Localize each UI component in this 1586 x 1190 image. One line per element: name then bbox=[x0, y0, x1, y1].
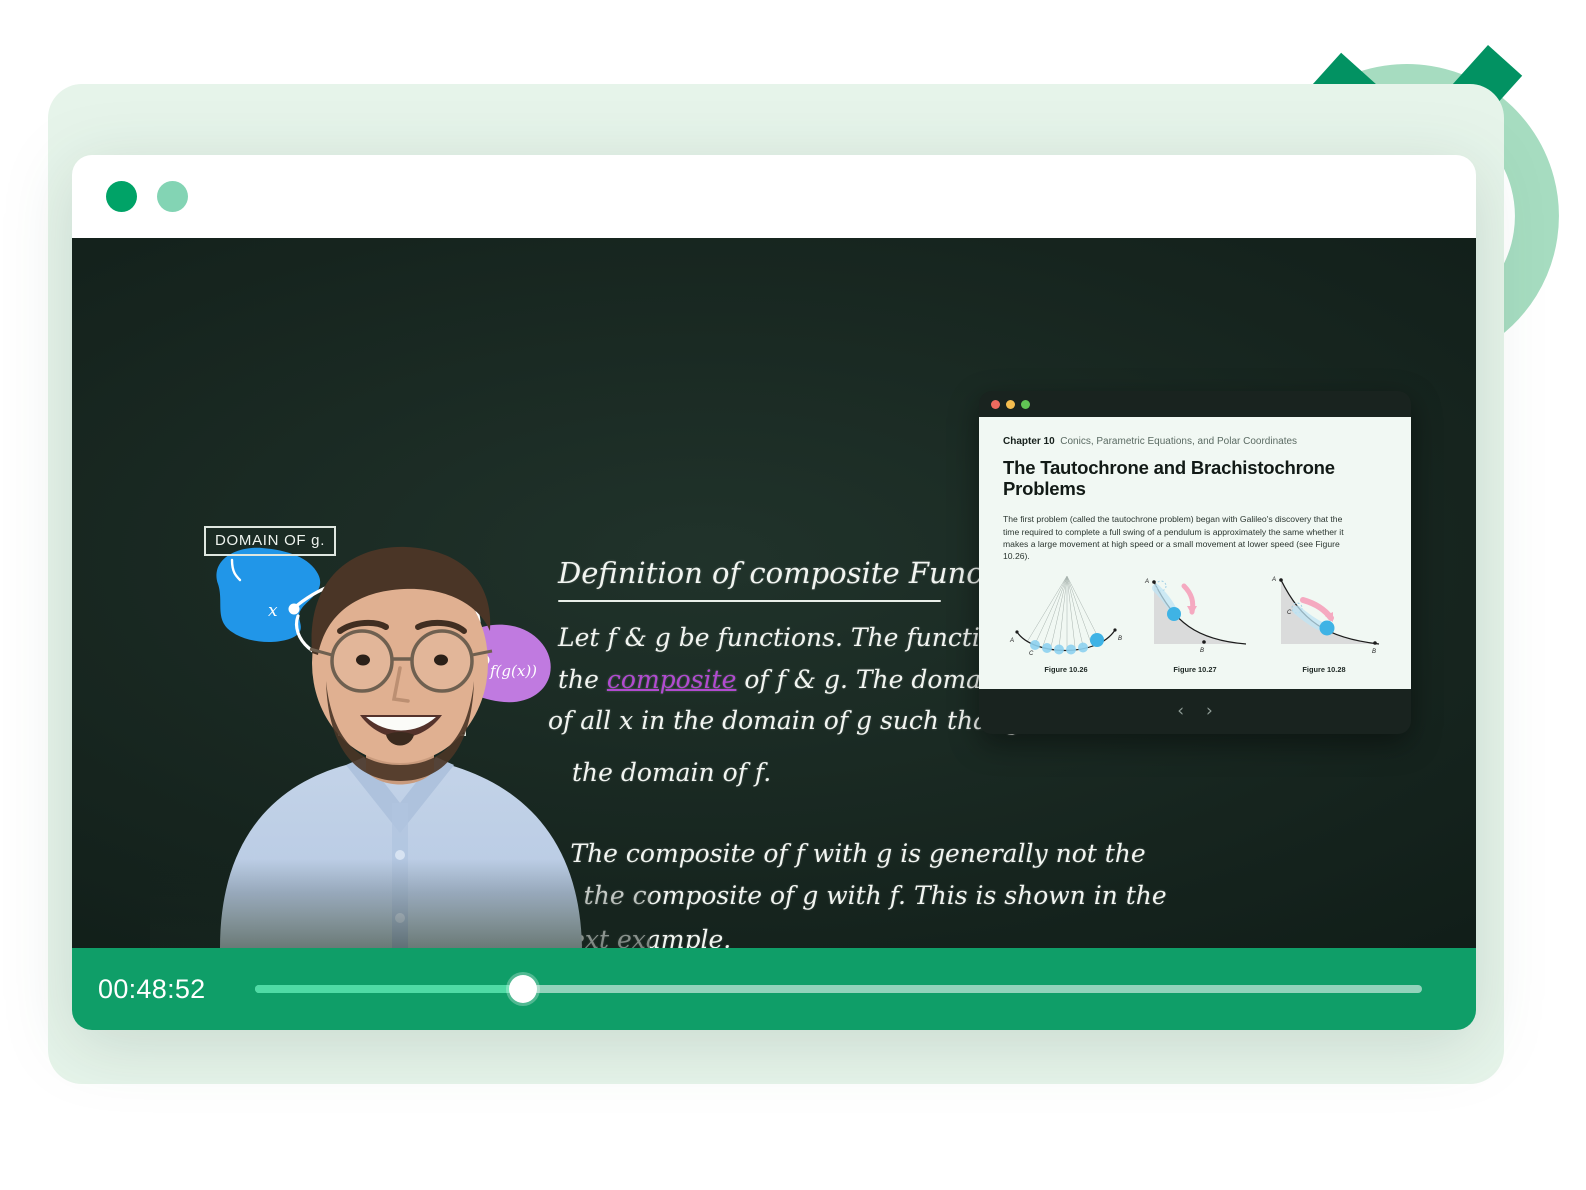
figure-10-28: A C B Figure 10.28 bbox=[1263, 570, 1385, 674]
svg-text:B: B bbox=[1200, 648, 1204, 654]
slide-window-titlebar bbox=[979, 391, 1411, 417]
screenshot-root: x g(x) f(g(x)) g f DOMAIN OF g. DOMAIN O… bbox=[0, 0, 1586, 1190]
slide-title: The Tautochrone and Brachistochrone Prob… bbox=[1003, 458, 1387, 499]
progress-thumb[interactable] bbox=[509, 975, 537, 1003]
chapter-number: Chapter 10 bbox=[1003, 436, 1055, 447]
window-control-dot-secondary[interactable] bbox=[157, 181, 188, 212]
figure-10-27-graphic: A B bbox=[1134, 570, 1256, 656]
window-control-dot-primary[interactable] bbox=[106, 181, 137, 212]
figure-caption: Figure 10.26 bbox=[1005, 665, 1127, 674]
svg-text:B: B bbox=[1118, 636, 1122, 642]
slide-content-page: Chapter 10 Conics, Parametric Equations,… bbox=[979, 417, 1411, 689]
svg-text:B: B bbox=[1372, 649, 1376, 655]
slide-body-text: The first problem (called the tautochron… bbox=[1003, 513, 1348, 562]
progress-fill bbox=[255, 985, 523, 993]
svg-text:A: A bbox=[1009, 638, 1014, 644]
figure-10-27: A B Figure 10.27 bbox=[1134, 570, 1256, 674]
slide-navigation: ‹ › bbox=[979, 689, 1411, 734]
svg-text:C: C bbox=[1029, 651, 1034, 656]
figure-10-26-graphic: A C B bbox=[1005, 570, 1127, 656]
maximize-icon[interactable] bbox=[1021, 400, 1030, 409]
chevron-left-icon[interactable]: ‹ bbox=[1177, 703, 1184, 720]
figure-10-28-graphic: A C B bbox=[1263, 570, 1385, 656]
figure-caption: Figure 10.28 bbox=[1263, 665, 1385, 674]
browser-chrome-bar bbox=[72, 155, 1476, 238]
lecture-video-blackboard: x g(x) f(g(x)) g f DOMAIN OF g. DOMAIN O… bbox=[72, 238, 1476, 948]
chapter-subtitle: Conics, Parametric Equations, and Polar … bbox=[1060, 436, 1297, 447]
chapter-breadcrumb: Chapter 10 Conics, Parametric Equations,… bbox=[1003, 436, 1387, 447]
svg-text:A: A bbox=[1271, 577, 1276, 583]
slide-figures-row: A C B Figure 10.26 A bbox=[1003, 570, 1387, 674]
playback-timestamp: 00:48:52 bbox=[98, 974, 233, 1005]
svg-text:C: C bbox=[1287, 610, 1292, 616]
minimize-icon[interactable] bbox=[1006, 400, 1015, 409]
presenter-video-figure bbox=[150, 503, 650, 948]
browser-window-card: x g(x) f(g(x)) g f DOMAIN OF g. DOMAIN O… bbox=[72, 155, 1476, 1030]
slide-overlay-window[interactable]: Chapter 10 Conics, Parametric Equations,… bbox=[979, 391, 1411, 734]
svg-text:A: A bbox=[1144, 579, 1149, 585]
video-player-bar: 00:48:52 bbox=[72, 948, 1476, 1030]
chevron-right-icon[interactable]: › bbox=[1206, 703, 1213, 720]
figure-10-26: A C B Figure 10.26 bbox=[1005, 570, 1127, 674]
figure-caption: Figure 10.27 bbox=[1134, 665, 1256, 674]
progress-track[interactable] bbox=[255, 985, 1422, 993]
close-icon[interactable] bbox=[991, 400, 1000, 409]
